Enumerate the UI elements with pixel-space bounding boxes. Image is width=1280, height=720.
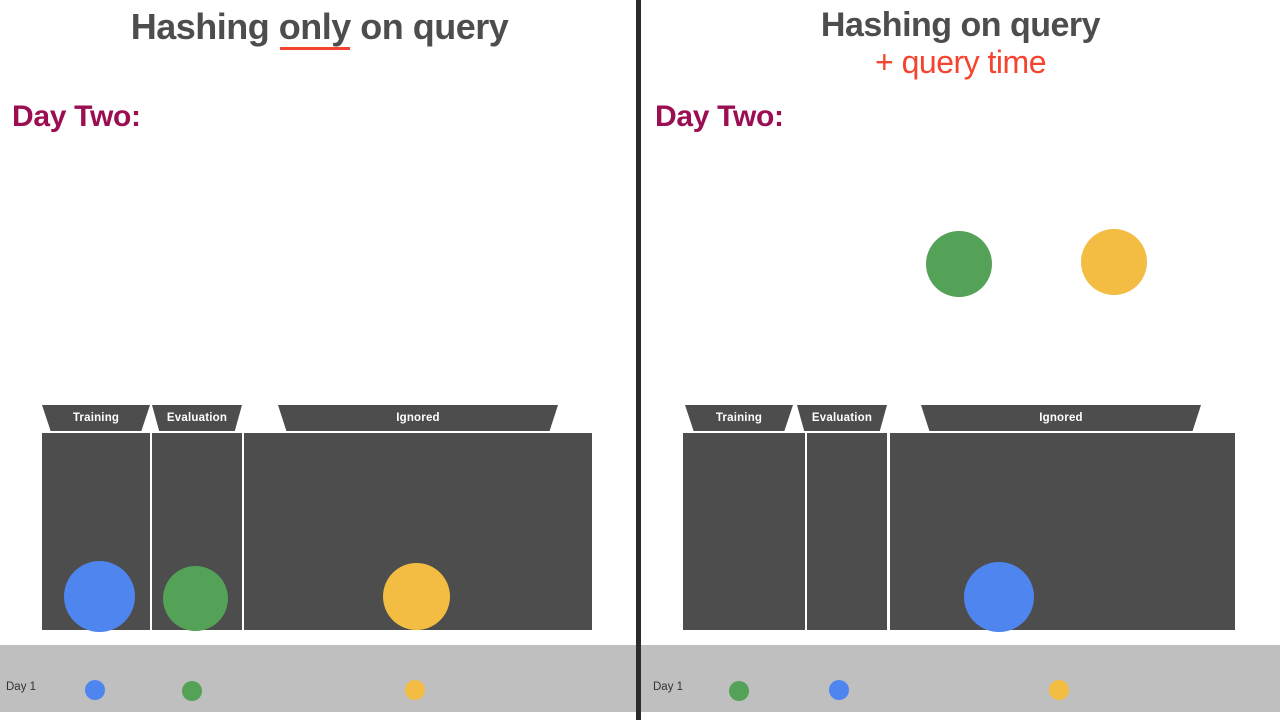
right-timeline-dot-blue xyxy=(829,680,849,700)
left-title-part-one: Hashing xyxy=(131,6,279,47)
right-timeline-dot-yellow xyxy=(1049,680,1069,700)
left-timeline-day-label: Day 1 xyxy=(6,681,36,693)
left-panel-title: Hashing only on query xyxy=(0,8,639,46)
left-timeline-band xyxy=(0,645,639,712)
left-bucket-label-evaluation: Evaluation xyxy=(152,405,242,431)
left-bucket-label-ignored-text: Ignored xyxy=(396,412,440,424)
right-bucket-evaluation xyxy=(807,433,887,630)
right-timeline-band xyxy=(641,645,1280,712)
right-day-heading: Day Two: xyxy=(655,100,784,134)
left-timeline-dot-yellow xyxy=(405,680,425,700)
left-bucket-label-evaluation-text: Evaluation xyxy=(167,412,227,424)
left-title-emphasis: only xyxy=(279,8,351,46)
left-day-heading: Day Two: xyxy=(12,100,141,134)
right-bucket-label-ignored-text: Ignored xyxy=(1039,412,1083,424)
right-panel-title: Hashing on query + query time xyxy=(641,8,1280,79)
left-comparison-panel: Hashing only on query Day Two: Training … xyxy=(0,0,639,720)
right-bucket-ignored xyxy=(890,433,1235,630)
right-bucket-label-training-text: Training xyxy=(716,412,762,424)
right-timeline-day-label: Day 1 xyxy=(653,681,683,693)
right-comparison-panel: Hashing on query + query time Day Two: T… xyxy=(641,0,1280,720)
right-bucket-label-ignored: Ignored xyxy=(921,405,1201,431)
left-title-part-two: on query xyxy=(351,6,509,47)
right-timeline-dot-green xyxy=(729,681,749,701)
left-bucket-label-training-text: Training xyxy=(73,412,119,424)
left-timeline-dot-green xyxy=(182,681,202,701)
right-bucket-training xyxy=(683,433,805,630)
slide-canvas: Hashing only on query Day Two: Training … xyxy=(0,0,1280,720)
right-bucket-label-evaluation-text: Evaluation xyxy=(812,412,872,424)
panel-divider xyxy=(636,0,641,720)
right-bucket-label-training: Training xyxy=(685,405,793,431)
left-bucket-label-training: Training xyxy=(42,405,150,431)
right-bucket-label-evaluation: Evaluation xyxy=(797,405,887,431)
right-title-main: Hashing on query xyxy=(821,6,1100,44)
right-floating-token-yellow xyxy=(1081,229,1147,295)
left-bucket-label-ignored: Ignored xyxy=(278,405,558,431)
left-token-evaluation-green xyxy=(163,566,228,631)
right-floating-token-green xyxy=(926,231,992,297)
left-token-ignored-yellow xyxy=(383,563,450,630)
left-timeline-dot-blue xyxy=(85,680,105,700)
right-title-sub: + query time xyxy=(641,46,1280,80)
right-token-ignored-blue xyxy=(964,562,1034,632)
left-token-training-blue xyxy=(64,561,135,632)
